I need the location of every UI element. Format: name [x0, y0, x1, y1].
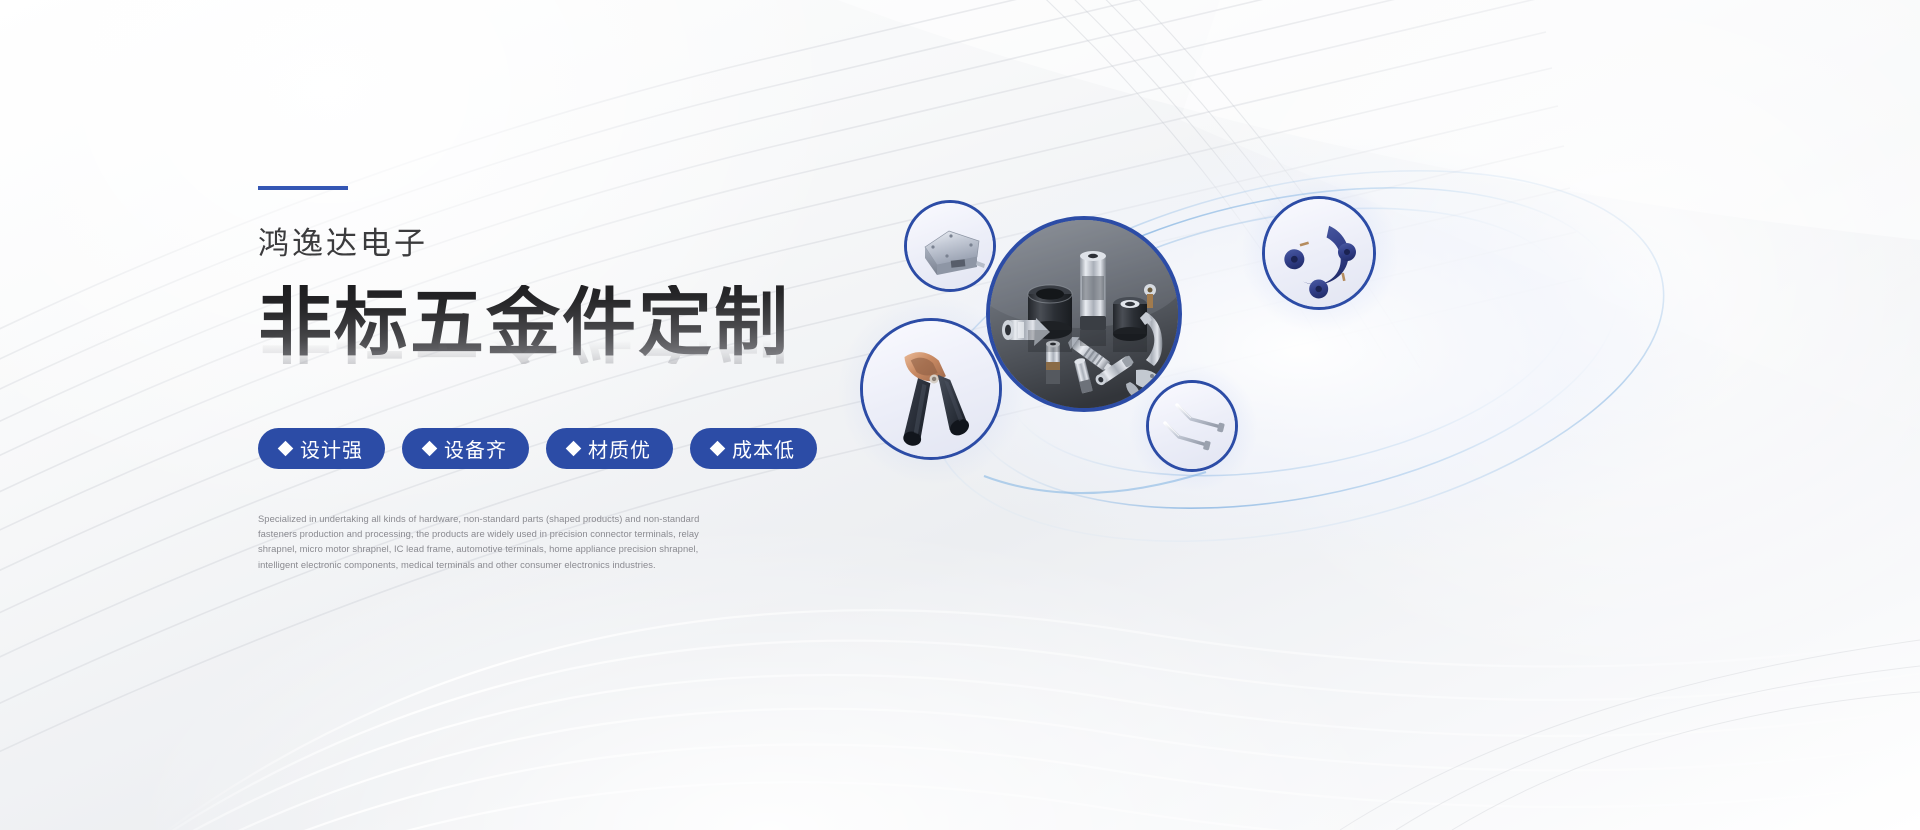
description-text: Specialized in undertaking all kinds of … [258, 511, 728, 572]
product-showcase [880, 120, 1740, 600]
snap-ring-icon [1265, 199, 1376, 310]
product-circle-assorted-machined-metal-parts[interactable] [986, 216, 1182, 412]
product-circle-blue-snap-retaining-ring[interactable] [1262, 196, 1376, 310]
accent-rule [258, 186, 348, 190]
machined-parts-icon [990, 220, 1182, 412]
badge-label: 材质优 [588, 434, 651, 463]
badge-label: 设备齐 [444, 434, 507, 463]
feature-badge-row: 设计强 设备齐 材质优 成本低 [258, 428, 878, 469]
brand-name: 鸿逸达电子 [258, 228, 878, 259]
metal-enclosure-icon [907, 203, 996, 292]
diamond-icon [278, 441, 294, 457]
diamond-icon [422, 441, 438, 457]
badge-low-cost[interactable]: 成本低 [690, 428, 817, 469]
badge-material-quality[interactable]: 材质优 [546, 428, 673, 469]
hero-banner: 鸿逸达电子 非标五金件定制 非标五金件定制 设计强 设备齐 材质优 成本低 [0, 0, 1920, 830]
badge-label: 设计强 [300, 434, 363, 463]
badge-design-strength[interactable]: 设计强 [258, 428, 385, 469]
diamond-icon [710, 441, 726, 457]
diamond-icon [566, 441, 582, 457]
headline-block: 非标五金件定制 非标五金件定制 [258, 285, 878, 402]
product-circle-copper-battery-clamp[interactable] [860, 318, 1002, 460]
page-title: 非标五金件定制 [258, 285, 878, 362]
badge-label: 成本低 [732, 434, 795, 463]
badge-equipment-complete[interactable]: 设备齐 [402, 428, 529, 469]
battery-clamp-icon [863, 321, 1002, 460]
product-circle-metal-enclosure-housing[interactable] [904, 200, 996, 292]
banner-content: 鸿逸达电子 非标五金件定制 非标五金件定制 设计强 设备齐 材质优 成本低 [258, 186, 878, 572]
